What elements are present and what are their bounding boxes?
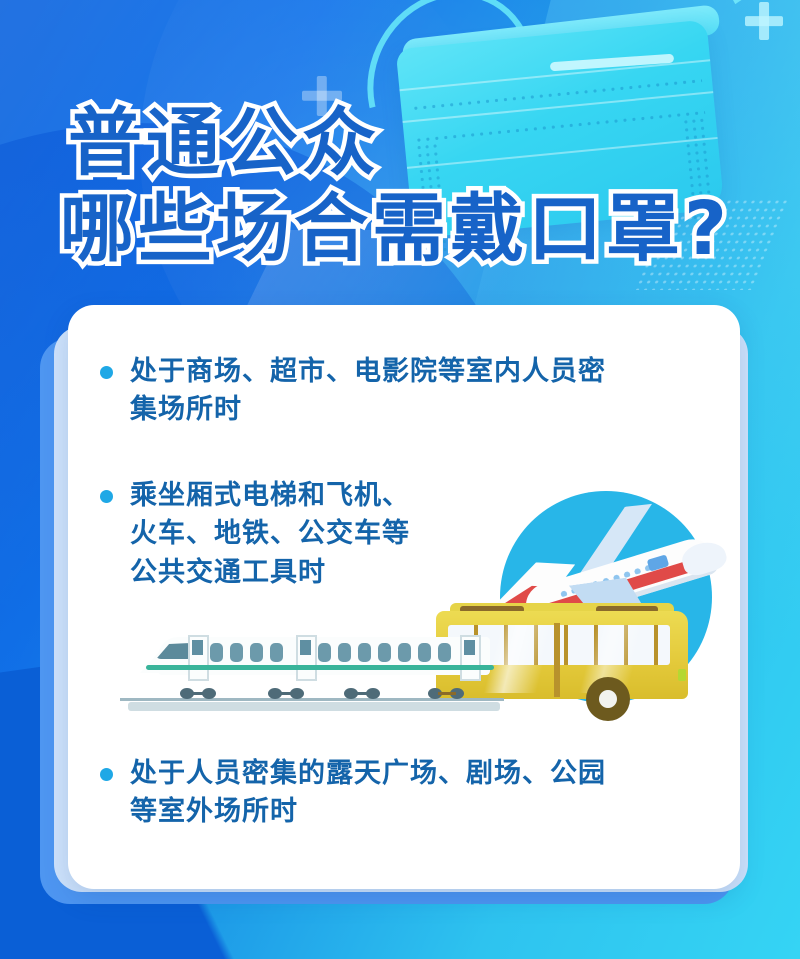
train-window <box>210 643 223 662</box>
title-line-primary: 普通公众 <box>68 104 731 182</box>
bullet-dot-icon <box>100 490 113 503</box>
list-item: 处于商场、超市、电影院等室内人员密 集场所时 <box>100 353 710 430</box>
bus-marker-light <box>678 669 686 681</box>
train-window <box>438 643 451 662</box>
plus-cross-icon <box>745 2 783 40</box>
train-axle <box>438 692 456 695</box>
infographic-poster: 普通公众 哪些场合需戴口罩? 处于商场、超市、电影院等室内人员密 集场所时 乘坐… <box>0 0 800 959</box>
train-door <box>296 635 317 681</box>
train-window <box>270 643 283 662</box>
train-body-stripe <box>146 665 494 670</box>
train-door <box>460 635 481 681</box>
train-window <box>318 643 331 662</box>
train-window <box>250 643 263 662</box>
train-axle <box>354 692 372 695</box>
train-ground-line <box>120 698 504 701</box>
list-item-label: 处于商场、超市、电影院等室内人员密 集场所时 <box>130 353 606 430</box>
bus-door <box>554 623 560 697</box>
train-window <box>230 643 243 662</box>
train-window <box>338 643 351 662</box>
train-rail <box>128 702 500 711</box>
train-icon <box>140 631 500 713</box>
train-door <box>188 635 209 681</box>
list-item: 处于人员密集的露天广场、剧场、公园 等室外场所时 <box>100 755 710 832</box>
train-window <box>358 643 371 662</box>
bullet-dot-icon <box>100 366 113 379</box>
train-window <box>398 643 411 662</box>
train-axle <box>278 692 296 695</box>
page-title: 普通公众 哪些场合需戴口罩? <box>60 104 731 269</box>
list-item-label: 处于人员密集的露天广场、剧场、公园 等室外场所时 <box>130 755 606 832</box>
bus-wheel <box>586 677 630 721</box>
train-window <box>378 643 391 662</box>
bullet-dot-icon <box>100 768 113 781</box>
train-window <box>418 643 431 662</box>
train-axle <box>190 692 208 695</box>
public-transport-illustration <box>264 485 734 725</box>
content-card: 处于商场、超市、电影院等室内人员密 集场所时 乘坐厢式电梯和飞机、 火车、地铁、… <box>68 305 740 889</box>
title-line-secondary: 哪些场合需戴口罩? <box>60 190 731 268</box>
